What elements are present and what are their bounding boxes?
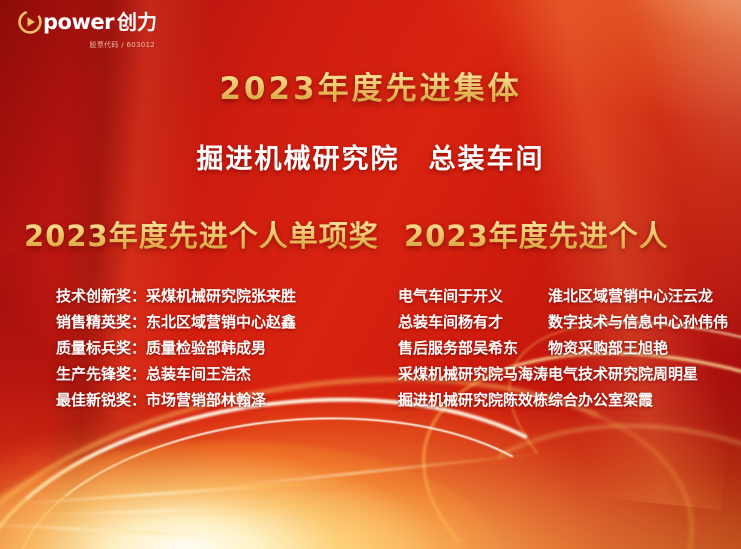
individual-awards-column: 电气车间于开义 淮北区域营销中心汪云龙 总装车间杨有才 数字技术与信息中心孙伟伟… — [398, 285, 706, 415]
heading-individual-special-awards: 2023年度先进个人单项奖 — [24, 213, 379, 255]
award-recipient: 质量检验部韩成男 — [146, 337, 266, 358]
recipient-name: 淮北区域营销中心汪云龙 — [548, 285, 706, 311]
stock-code: 股票代码 / 603012 — [18, 40, 157, 50]
section-headings: 2023年度先进个人单项奖 2023年度先进个人 — [0, 213, 741, 265]
award-label: 质量标兵奖 — [56, 337, 131, 358]
list-item: 售后服务部吴希东 物资采购部王旭艳 — [398, 337, 706, 363]
award-poster: power 创力 股票代码 / 603012 2023年度先进集体 掘进机械研究… — [0, 0, 741, 549]
award-label: 生产先锋奖 — [56, 363, 131, 384]
award-label: 技术创新奖 — [56, 285, 131, 306]
list-item: 电气车间于开义 淮北区域营销中心汪云龙 — [398, 285, 706, 311]
recipient-name: 总装车间杨有才 — [398, 311, 548, 337]
brand-wordmark-cn: 创力 — [117, 12, 157, 32]
list-item: 质量标兵奖 ： 质量检验部韩成男 — [56, 337, 316, 363]
list-item: 技术创新奖 ： 采煤机械研究院张来胜 — [56, 285, 316, 311]
recipient-name: 售后服务部吴希东 — [398, 337, 548, 363]
award-recipient: 采煤机械研究院张来胜 — [146, 285, 296, 306]
page-title: 2023年度先进集体 — [0, 63, 741, 108]
award-recipient: 东北区域营销中心赵鑫 — [146, 311, 296, 332]
c-power-logo-icon — [18, 10, 42, 34]
heading-individual-awards: 2023年度先进个人 — [404, 213, 669, 255]
award-separator: ： — [131, 337, 146, 358]
recipient-name: 掘进机械研究院陈效栋 — [398, 389, 548, 415]
brand-wordmark: power — [43, 12, 114, 33]
page-subtitle: 掘进机械研究院 总装车间 — [0, 137, 741, 176]
list-item: 生产先锋奖 ： 总装车间王浩杰 — [56, 363, 316, 389]
award-label: 销售精英奖 — [56, 311, 131, 332]
award-separator: ： — [131, 311, 146, 332]
list-item: 掘进机械研究院陈效栋 综合办公室梁霞 — [398, 389, 706, 415]
poster-content: 2023年度先进集体 掘进机械研究院 总装车间 2023年度先进个人单项奖 20… — [0, 0, 741, 549]
recipient-name: 电气车间于开义 — [398, 285, 548, 311]
award-recipient: 市场营销部林翰泽 — [146, 389, 266, 410]
brand-logo-row: power 创力 — [18, 10, 157, 34]
award-separator: ： — [131, 285, 146, 306]
list-item: 采煤机械研究院马海涛 电气技术研究院周明星 — [398, 363, 706, 389]
list-item: 最佳新锐奖 ： 市场营销部林翰泽 — [56, 389, 316, 415]
brand-logo[interactable]: power 创力 股票代码 / 603012 — [18, 10, 157, 50]
list-item: 销售精英奖 ： 东北区域营销中心赵鑫 — [56, 311, 316, 337]
recipient-name: 物资采购部王旭艳 — [548, 337, 706, 363]
award-separator: ： — [131, 363, 146, 384]
special-awards-column: 技术创新奖 ： 采煤机械研究院张来胜 销售精英奖 ： 东北区域营销中心赵鑫 质量… — [56, 285, 316, 415]
award-recipient: 总装车间王浩杰 — [146, 363, 251, 384]
recipient-name: 数字技术与信息中心孙伟伟 — [548, 311, 706, 337]
recipient-name: 电气技术研究院周明星 — [548, 363, 706, 389]
list-item: 总装车间杨有才 数字技术与信息中心孙伟伟 — [398, 311, 706, 337]
recipient-name: 采煤机械研究院马海涛 — [398, 363, 548, 389]
recipient-name: 综合办公室梁霞 — [548, 389, 706, 415]
award-separator: ： — [131, 389, 146, 410]
award-label: 最佳新锐奖 — [56, 389, 131, 410]
